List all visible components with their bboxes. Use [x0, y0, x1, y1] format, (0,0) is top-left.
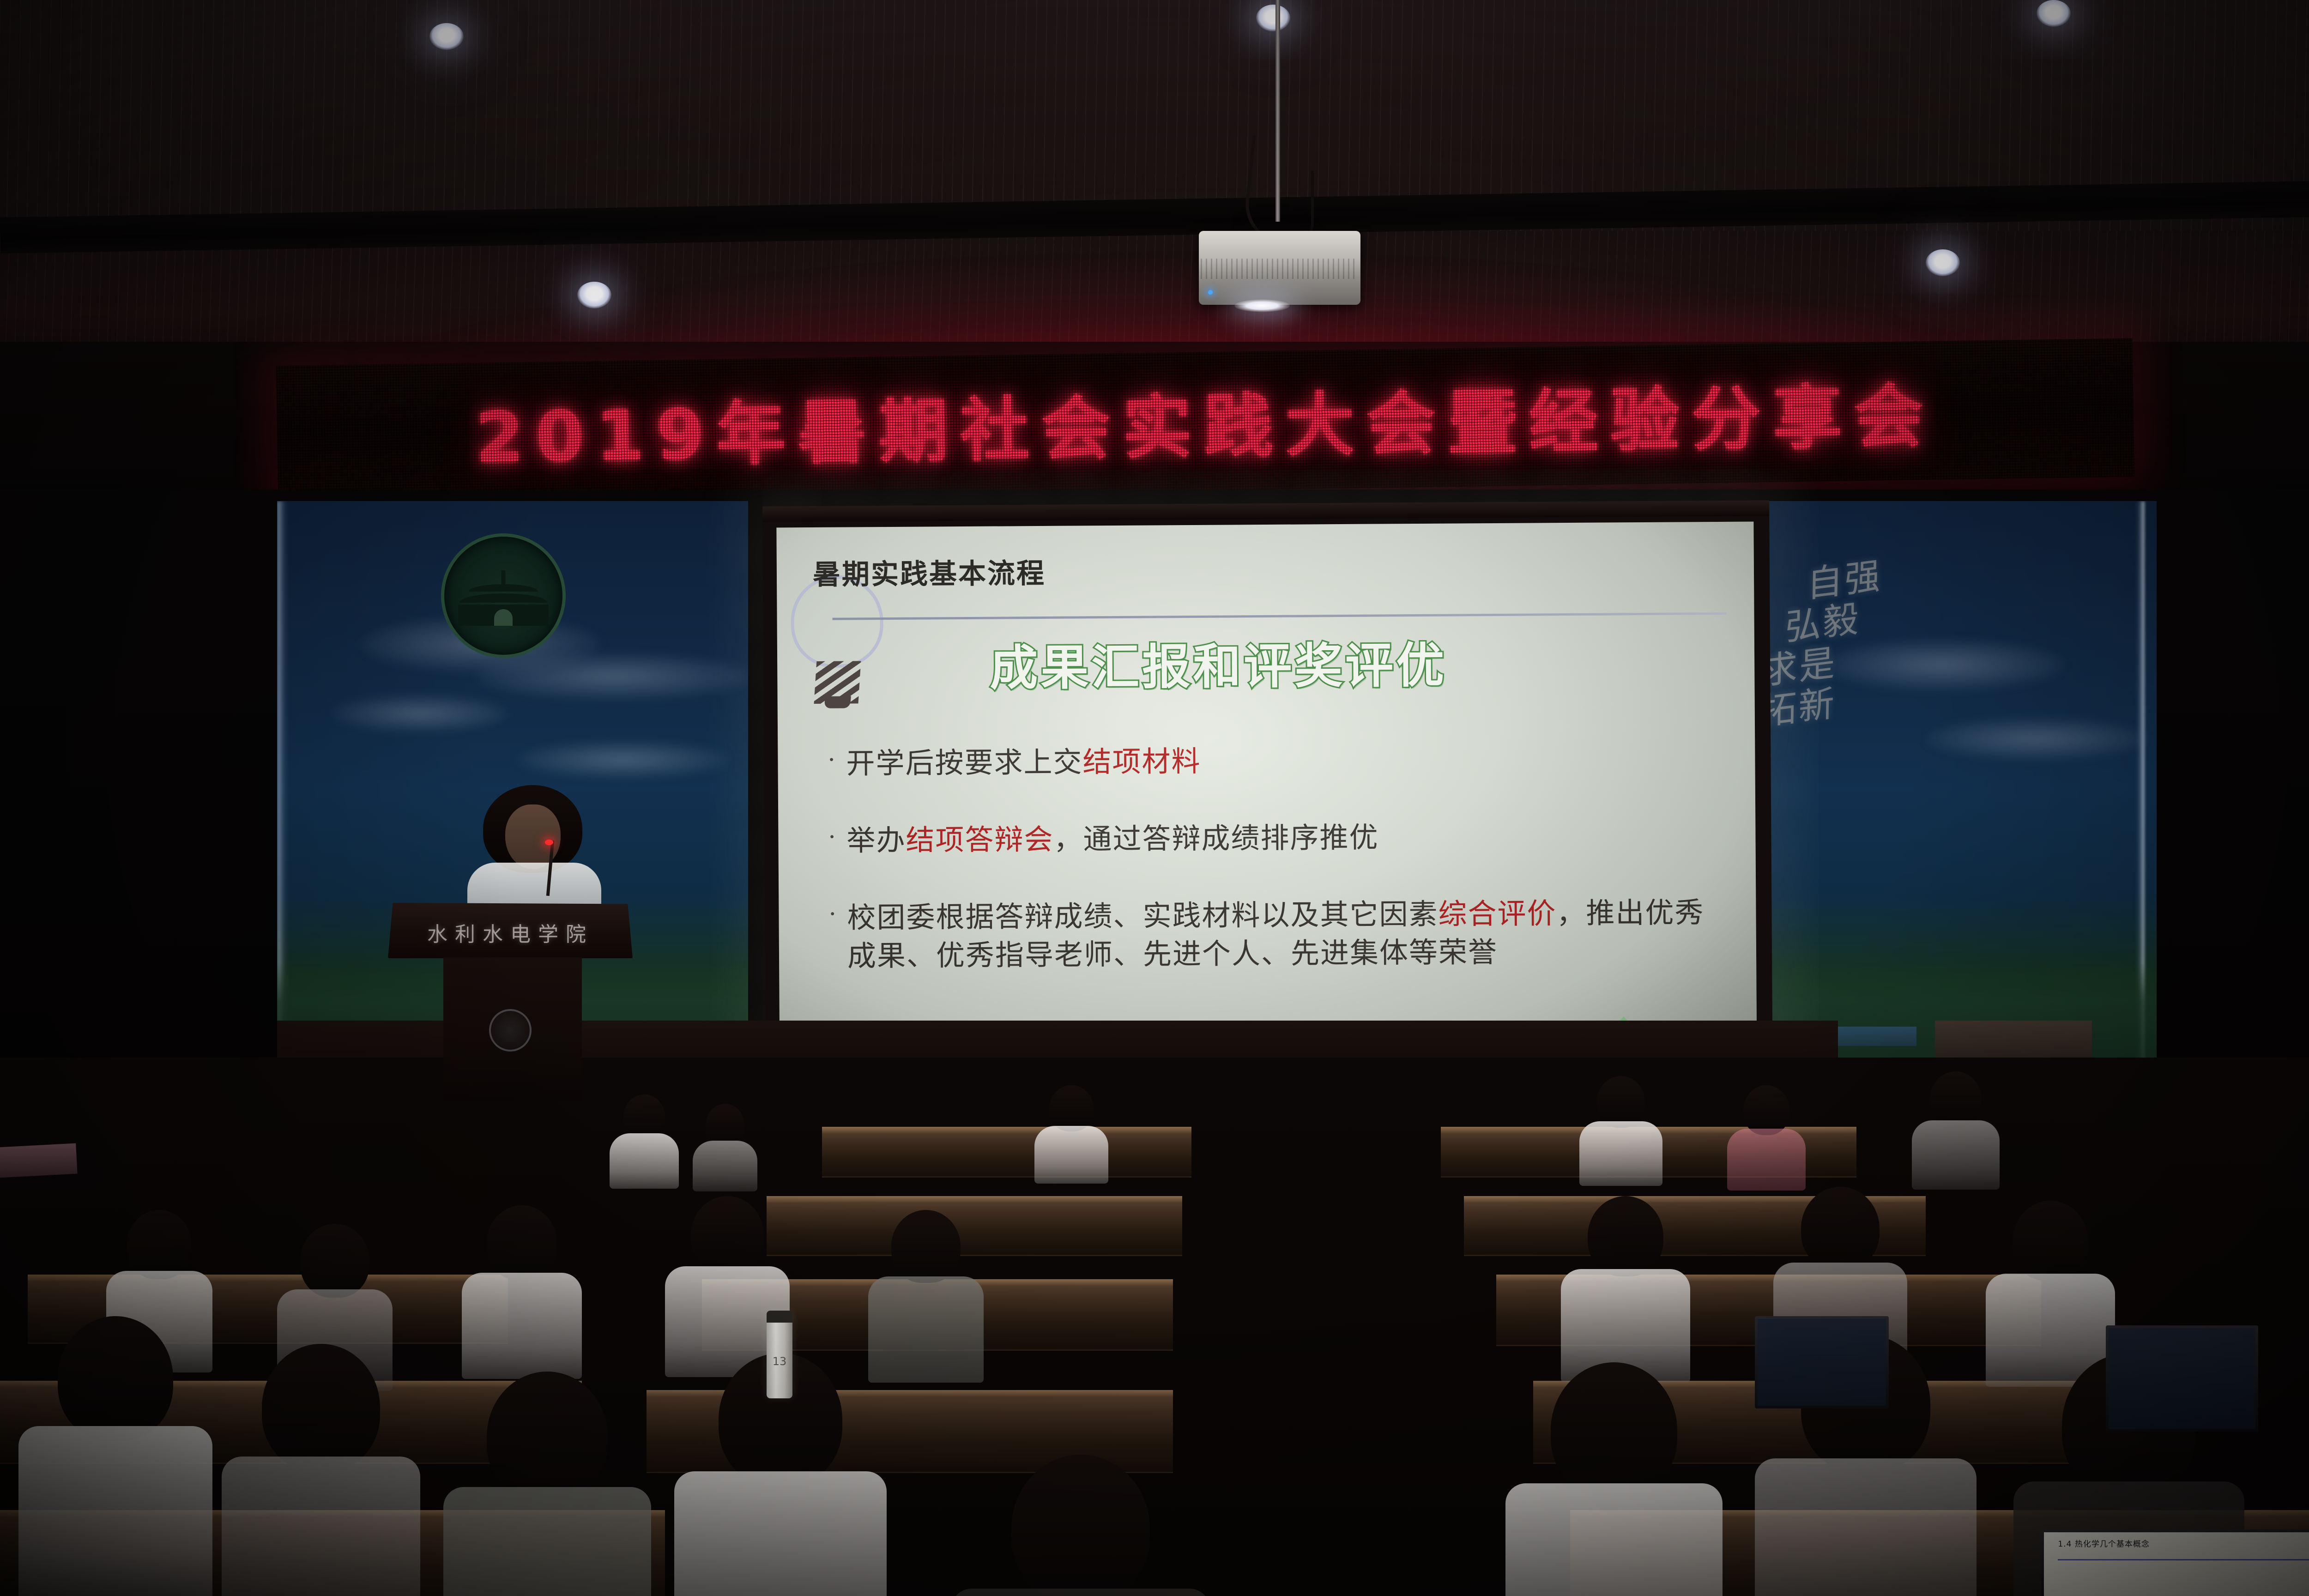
slide-title: 成果汇报和评奖评优 [990, 626, 1447, 699]
projector-status-led [1208, 290, 1213, 295]
head [58, 1316, 173, 1441]
torso [222, 1457, 420, 1596]
audience-member [868, 1210, 984, 1372]
campus-building [1935, 1021, 2092, 1058]
bullet-segment: ，通过答辩成绩排序推优 [1053, 821, 1378, 856]
torso [610, 1133, 679, 1189]
torso [18, 1426, 212, 1596]
head [1597, 1076, 1645, 1128]
torso [1727, 1129, 1806, 1191]
bullet-marker: · [828, 899, 847, 975]
bullet-highlight: 结项答辩会 [906, 822, 1053, 857]
bullet-segment: 举办 [846, 823, 906, 858]
downlight [429, 23, 464, 50]
bullet-marker: · [828, 822, 847, 860]
lightbulb-tip [824, 696, 851, 708]
torso [1034, 1126, 1108, 1184]
audience-member [1034, 1085, 1108, 1178]
downlight [1926, 249, 1960, 276]
head [1743, 1085, 1789, 1135]
audience-member [1561, 1196, 1690, 1367]
audience-area: 13 1.4 热化学几个基本概念 [0, 1058, 2309, 1596]
laptop-screen [2109, 1328, 2255, 1429]
torso [868, 1276, 984, 1383]
audience-member [1579, 1076, 1662, 1182]
emblem-arch [494, 609, 513, 626]
head [1801, 1187, 1880, 1270]
head [1011, 1455, 1150, 1596]
torso [1912, 1120, 2000, 1190]
downlight [577, 282, 611, 308]
led-banner-text: 2019年暑期社会实践大会暨经验分享会 [277, 357, 2134, 485]
bullet-segment: 开学后按要求上交 [846, 745, 1082, 780]
laptop[interactable] [1755, 1316, 1889, 1409]
slide-divider-rule [833, 612, 1727, 620]
desk-row [822, 1127, 1191, 1178]
audience-member [1986, 1201, 2115, 1372]
torso [443, 1487, 651, 1596]
audience-member [951, 1455, 1210, 1596]
podium-label: 水利水电学院 [388, 918, 633, 947]
audience-member [1912, 1071, 2000, 1187]
cloud [332, 695, 508, 732]
slide-bullet: ·开学后按要求上交结项材料 [828, 739, 1725, 783]
head [691, 1196, 764, 1274]
cloud [1926, 718, 2147, 760]
torso [1755, 1458, 1977, 1596]
emblem-roof [459, 593, 547, 603]
seat-placard [0, 1143, 78, 1178]
head [2013, 1201, 2088, 1281]
head [1049, 1085, 1094, 1131]
slide-header: 暑期实践基本流程 [813, 547, 1726, 592]
calligraphy-motto: 自强 弘毅 求是 拓新 [1805, 556, 1883, 728]
laptop[interactable]: 1.4 热化学几个基本概念 [2041, 1529, 2309, 1596]
projection-screen: 暑期实践基本流程 成果汇报和评奖评优 ·开学后按要求上交结项材料·举办结项答辩会… [776, 522, 1757, 1074]
head [706, 1104, 744, 1146]
laptop-screen [1758, 1319, 1886, 1406]
downlight [2037, 0, 2071, 27]
slide-bullet: ·校团委根据答辩成绩、实践材料以及其它因素综合评价，推出优秀成果、优秀指导老师、… [828, 893, 1727, 975]
head [891, 1210, 961, 1283]
laptop-slide-title: 1.4 热化学几个基本概念 [2058, 1537, 2309, 1549]
emblem-spire [502, 570, 506, 584]
torso [1579, 1121, 1662, 1186]
bullet-text: 校团委根据答辩成绩、实践材料以及其它因素综合评价，推出优秀成果、优秀指导老师、先… [847, 893, 1727, 975]
bullet-highlight: 综合评价 [1438, 896, 1556, 931]
torso [951, 1589, 1210, 1596]
head [1551, 1362, 1677, 1498]
bullet-segment: 校团委根据答辩成绩、实践材料以及其它因素 [847, 897, 1438, 935]
torso [1505, 1483, 1723, 1596]
emblem-roof [469, 584, 538, 592]
podium: 水利水电学院 [388, 903, 633, 1101]
bullet-marker: · [828, 744, 846, 783]
audience-member [18, 1316, 212, 1593]
cloud [517, 741, 730, 778]
lecture-hall-scene: 2019年暑期社会实践大会暨经验分享会 自强 弘 [0, 0, 2309, 1596]
presentation-slide: 暑期实践基本流程 成果汇报和评奖评优 ·开学后按要求上交结项材料·举办结项答辩会… [776, 522, 1757, 1074]
microphone-led-icon [545, 840, 553, 845]
bullet-text: 开学后按要求上交结项材料 [846, 739, 1725, 783]
slide-bullet: ·举办结项答辩会，通过答辩成绩排序推优 [828, 816, 1726, 860]
lightbulb-icon [791, 575, 884, 691]
head [1588, 1196, 1663, 1276]
thermos-label: 13 [767, 1355, 792, 1368]
torso [462, 1273, 582, 1379]
torso [674, 1471, 887, 1596]
projection-screen-frame: 暑期实践基本流程 成果汇报和评奖评优 ·开学后按要求上交结项材料·举办结项答辩会… [762, 500, 1773, 1102]
laptop-slide-rule [2058, 1559, 2309, 1560]
thermos-bottle: 13 [767, 1311, 792, 1398]
led-banner: 2019年暑期社会实践大会暨经验分享会 [276, 338, 2134, 504]
audience-member [693, 1104, 757, 1187]
head [487, 1205, 557, 1280]
wuhan-university-emblem-icon [441, 533, 566, 658]
school-seal-icon [489, 1009, 532, 1052]
head [262, 1344, 380, 1471]
head [1930, 1071, 1982, 1127]
head [127, 1210, 192, 1279]
bullet-highlight: 结项材料 [1082, 744, 1201, 779]
cloud [476, 653, 748, 700]
downlight [1256, 5, 1290, 31]
projector-vent [1201, 259, 1358, 279]
laptop[interactable] [2106, 1325, 2258, 1432]
audience-member [610, 1094, 679, 1182]
audience-member [1727, 1085, 1806, 1187]
head [300, 1224, 369, 1298]
backdrop-right: 自强 弘毅 求是 拓新 [1750, 501, 2157, 1101]
audience-member [462, 1205, 582, 1367]
thermos-cap [767, 1311, 792, 1323]
head [487, 1372, 608, 1502]
slide-bullet-list: ·开学后按要求上交结项材料·举办结项答辩会，通过答辩成绩排序推优·校团委根据答辩… [828, 739, 1727, 1014]
laptop-screen: 1.4 热化学几个基本概念 [2044, 1532, 2309, 1596]
bullet-text: 举办结项答辩会，通过答辩成绩排序推优 [846, 816, 1726, 860]
torso [693, 1141, 757, 1191]
